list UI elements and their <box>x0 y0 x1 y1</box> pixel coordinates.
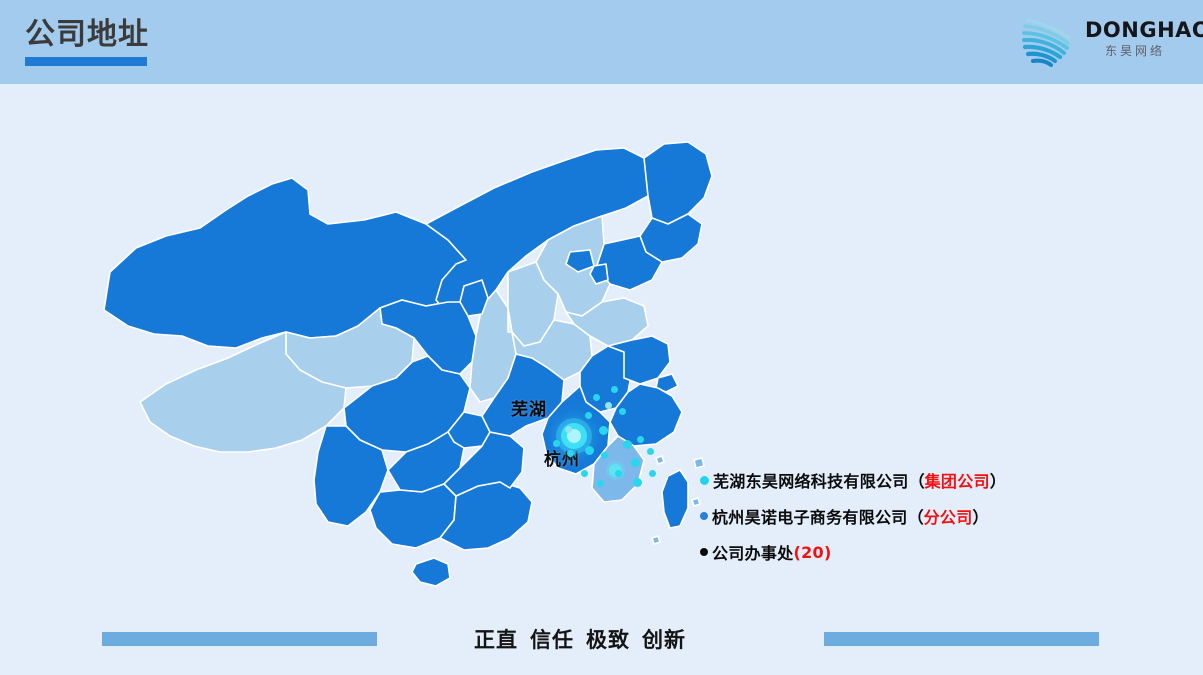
logo-subtitle: 东昊网络 <box>1085 43 1185 59</box>
logo-text-block: DONGHAO 东昊网络 <box>1085 18 1185 59</box>
footer-bar-right <box>824 632 1099 646</box>
footer-bar-left <box>102 632 377 646</box>
legend-label: 芜湖东昊网络科技有限公司 <box>713 468 909 492</box>
page-title: 公司地址 <box>25 17 149 53</box>
legend-bullet-black-icon <box>700 548 708 556</box>
legend-note: (20) <box>794 543 832 562</box>
legend-note: 集团公司 <box>925 468 990 492</box>
legend-close-paren: ） <box>973 504 989 528</box>
china-map-container[interactable]: 芜湖 杭州 <box>96 140 716 610</box>
brand-logo[interactable]: DONGHAO 东昊网络 <box>1017 12 1185 72</box>
slogan-word-3: 极致 <box>586 628 630 652</box>
legend-panel: 芜湖东昊网络科技有限公司 （ 集团公司 ） 杭州昊诺电子商务有限公司 （ 分公司… <box>700 462 1120 570</box>
legend-item-group-company[interactable]: 芜湖东昊网络科技有限公司 （ 集团公司 ） <box>700 462 1120 498</box>
slogan-word-4: 创新 <box>642 628 686 652</box>
title-block: 公司地址 <box>25 17 149 66</box>
footer-slogan: 正直信任极致创新 <box>455 624 705 654</box>
legend-label: 杭州昊诺电子商务有限公司 <box>712 504 908 528</box>
slogan-word-2: 信任 <box>530 628 574 652</box>
legend-open-paren: （ <box>909 468 925 492</box>
legend-item-branch-company[interactable]: 杭州昊诺电子商务有限公司 （ 分公司 ） <box>700 498 1120 534</box>
legend-open-paren: （ <box>908 504 924 528</box>
legend-note: 分公司 <box>924 504 973 528</box>
province-shapes <box>104 142 712 586</box>
legend-label: 公司办事处 <box>712 540 794 564</box>
feather-fan-icon <box>1017 12 1083 70</box>
page-header: 公司地址 DONGHAO 东昊网络 <box>0 0 1203 84</box>
china-provinces-map <box>96 140 716 610</box>
legend-item-offices[interactable]: 公司办事处 (20) <box>700 534 1120 570</box>
legend-bullet-blue-icon <box>700 512 708 520</box>
city-label-hangzhou: 杭州 <box>544 445 580 470</box>
slogan-word-1: 正直 <box>474 628 518 652</box>
legend-close-paren: ） <box>990 468 1006 492</box>
city-label-wuhu: 芜湖 <box>511 395 547 420</box>
title-underline-accent <box>25 57 147 66</box>
logo-name: DONGHAO <box>1085 18 1185 42</box>
legend-bullet-cyan-icon <box>700 476 709 485</box>
